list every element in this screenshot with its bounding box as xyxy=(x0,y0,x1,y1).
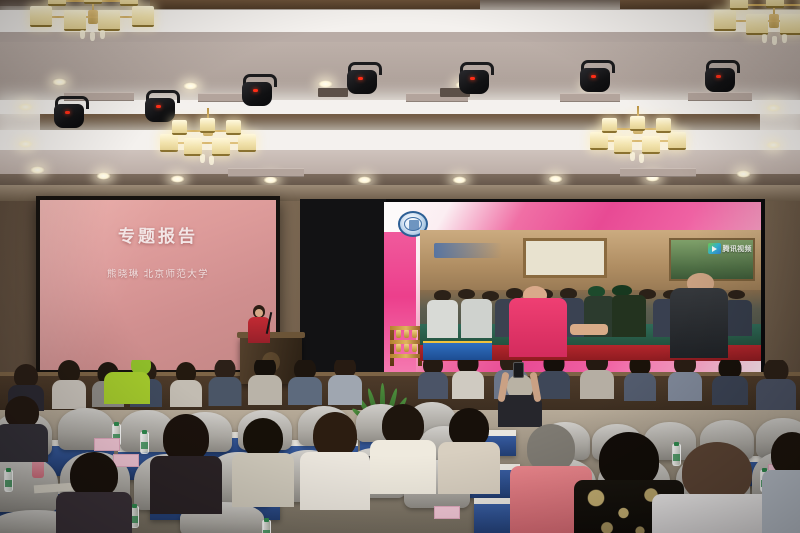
spotlight-indicator-led xyxy=(470,77,475,80)
ceiling xyxy=(0,0,800,190)
downlight xyxy=(548,175,563,183)
audience-member xyxy=(248,360,282,404)
stage-spotlight xyxy=(457,62,491,96)
stage-spotlight xyxy=(345,62,379,96)
downlight xyxy=(766,141,781,149)
downlight xyxy=(96,172,111,180)
conference-hall-photo: 专题报告 熊晓琳 北京师范大学 xyxy=(0,0,800,533)
play-button-icon xyxy=(708,243,721,254)
chandelier xyxy=(28,0,158,46)
audience-member xyxy=(328,360,362,404)
stage-spotlight xyxy=(703,60,737,94)
downlight xyxy=(452,176,467,184)
stage-spotlight xyxy=(578,60,612,94)
downlight xyxy=(736,170,751,178)
video-handshake xyxy=(570,324,608,334)
slide-subtitle: 熊晓琳 北京师范大学 xyxy=(40,266,276,280)
audience-member xyxy=(56,452,132,533)
ceiling-vent xyxy=(228,168,304,177)
audience-member xyxy=(0,396,48,458)
video-person-pink-jacket xyxy=(509,298,567,357)
downlight xyxy=(263,176,278,184)
spotlight-indicator-led xyxy=(358,77,363,80)
led-slide: 腾讯视频 xyxy=(384,202,762,376)
spotlight-indicator-led xyxy=(65,111,70,114)
spotlight-indicator-led xyxy=(253,89,258,92)
slide-title: 专题报告 xyxy=(40,222,276,247)
video-wall-framed-panel xyxy=(523,238,608,278)
downlight xyxy=(18,140,33,148)
audience-member xyxy=(624,360,656,400)
audience-member xyxy=(712,360,748,404)
downlight xyxy=(766,104,781,112)
water-bottle xyxy=(262,520,271,533)
video-title-overlay xyxy=(434,243,502,257)
ceiling-vent xyxy=(620,168,696,177)
audience-member xyxy=(288,360,322,404)
downlight xyxy=(30,166,45,174)
audience-member xyxy=(668,360,702,400)
stage-spotlight xyxy=(240,74,274,108)
video-lower-third-banner xyxy=(423,341,491,360)
ceiling-vent xyxy=(560,93,620,102)
video-person-dark-jacket xyxy=(670,288,728,359)
table-name-card xyxy=(434,506,460,519)
embedded-video: 腾讯视频 xyxy=(420,230,762,361)
water-bottle xyxy=(140,432,149,454)
audience-member xyxy=(762,432,800,532)
audience-member xyxy=(370,404,436,490)
audience-member xyxy=(104,366,150,402)
audience-member xyxy=(756,360,796,408)
right-led-video-wall: 腾讯视频 xyxy=(300,199,765,379)
audience-area xyxy=(0,360,800,533)
audience-member xyxy=(208,360,241,405)
stage-spotlight xyxy=(52,96,86,130)
ceiling-speaker xyxy=(318,88,348,97)
downlight xyxy=(318,80,333,88)
audience-member xyxy=(232,418,294,504)
video-watermark: 腾讯视频 xyxy=(708,243,752,254)
chandelier xyxy=(590,106,686,162)
audience-member xyxy=(150,414,222,510)
led-dark-panel xyxy=(300,199,386,379)
table-name-card xyxy=(94,438,120,451)
audience-member xyxy=(452,360,484,398)
audience-member xyxy=(52,360,86,408)
audience-member xyxy=(438,408,500,490)
chandelier xyxy=(160,108,256,162)
audience-member xyxy=(418,360,448,398)
water-bottle xyxy=(4,470,13,492)
downlight xyxy=(18,103,33,111)
smartphone[interactable] xyxy=(513,362,524,378)
chandelier xyxy=(714,0,800,48)
audience-member xyxy=(300,412,370,506)
audience-member xyxy=(580,360,614,398)
downlight xyxy=(183,82,198,90)
downlight xyxy=(52,78,67,86)
spotlight-indicator-led xyxy=(716,75,721,78)
audience-member xyxy=(538,360,570,398)
downlight xyxy=(357,176,372,184)
video-watermark-label: 腾讯视频 xyxy=(723,244,752,254)
spotlight-indicator-led xyxy=(591,75,596,78)
audience-member xyxy=(170,362,202,406)
downlight xyxy=(170,175,185,183)
